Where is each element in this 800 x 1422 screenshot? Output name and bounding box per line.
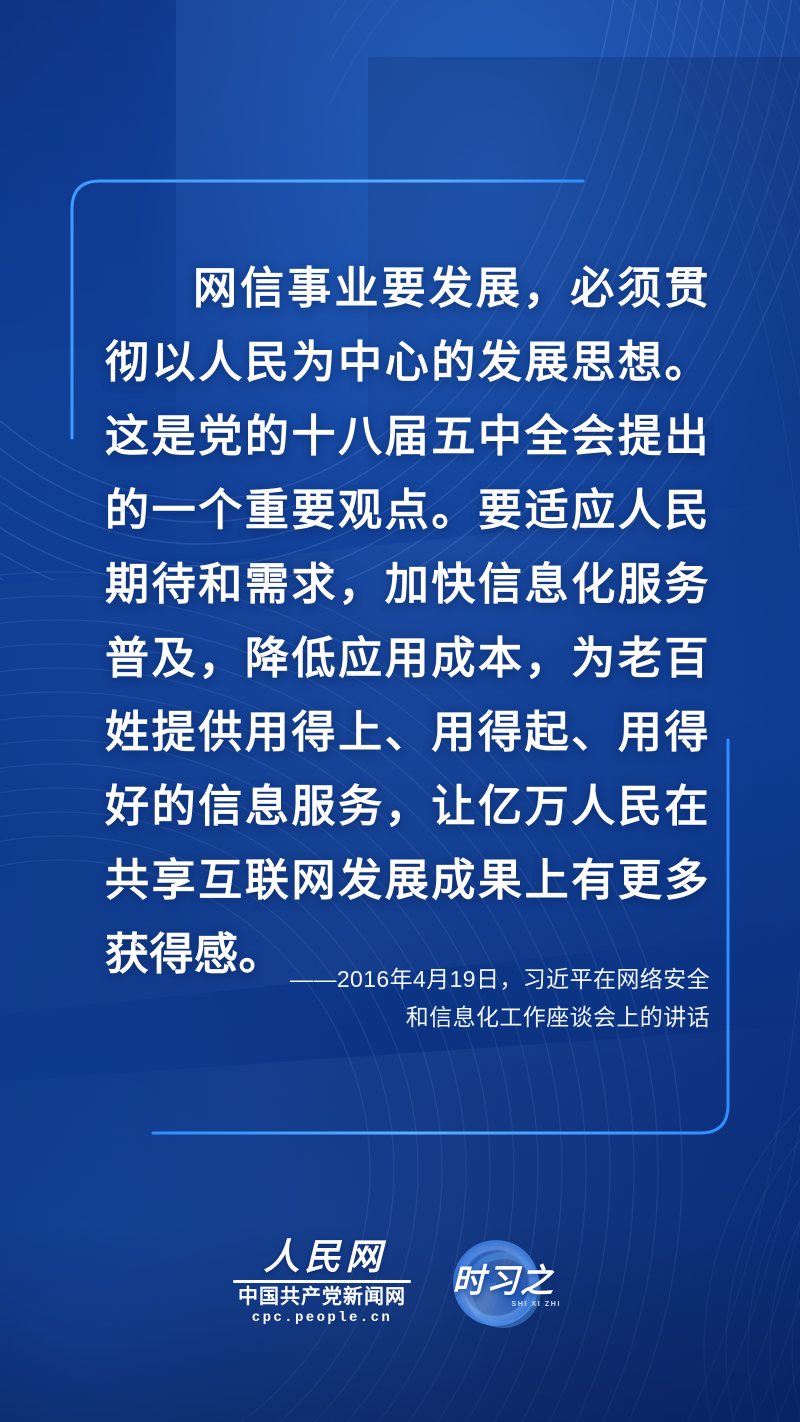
people-cn-subtitle: 中国共产党新闻网 <box>238 1286 406 1309</box>
arc-group-bottom-right <box>420 1020 800 1422</box>
people-cn-logo[interactable]: 人民网 中国共产党新闻网 cpc.people.cn <box>233 1236 411 1328</box>
quote-text: 网信事业要发展，必须贯彻以人民为中心的发展思想。这是党的十八届五中全会提出的一个… <box>105 252 709 992</box>
people-cn-url: cpc.people.cn <box>252 1309 392 1328</box>
quote-paragraph: 网信事业要发展，必须贯彻以人民为中心的发展思想。这是党的十八届五中全会提出的一个… <box>105 252 709 992</box>
shixizhi-title: 时习之 <box>452 1265 556 1299</box>
people-cn-divider <box>233 1280 411 1283</box>
poster-canvas: 网信事业要发展，必须贯彻以人民为中心的发展思想。这是党的十八届五中全会提出的一个… <box>0 0 800 1422</box>
shixizhi-pinyin: SHI XI ZHI <box>512 1301 561 1308</box>
attribution-line-1: ——2016年4月19日，习近平在网络安全 <box>150 960 710 998</box>
shixizhi-logo[interactable]: 时习之 SHI XI ZHI <box>441 1236 567 1328</box>
attribution-line-2: 和信息化工作座谈会上的讲话 <box>150 998 710 1036</box>
background-sheen-lower <box>0 1019 800 1422</box>
quote-attribution: ——2016年4月19日，习近平在网络安全 和信息化工作座谈会上的讲话 <box>150 960 710 1036</box>
footer-logos: 人民网 中国共产党新闻网 cpc.people.cn 时习之 SHI XI ZH… <box>0 1232 800 1332</box>
people-cn-calligraphy: 人民网 <box>257 1236 386 1278</box>
